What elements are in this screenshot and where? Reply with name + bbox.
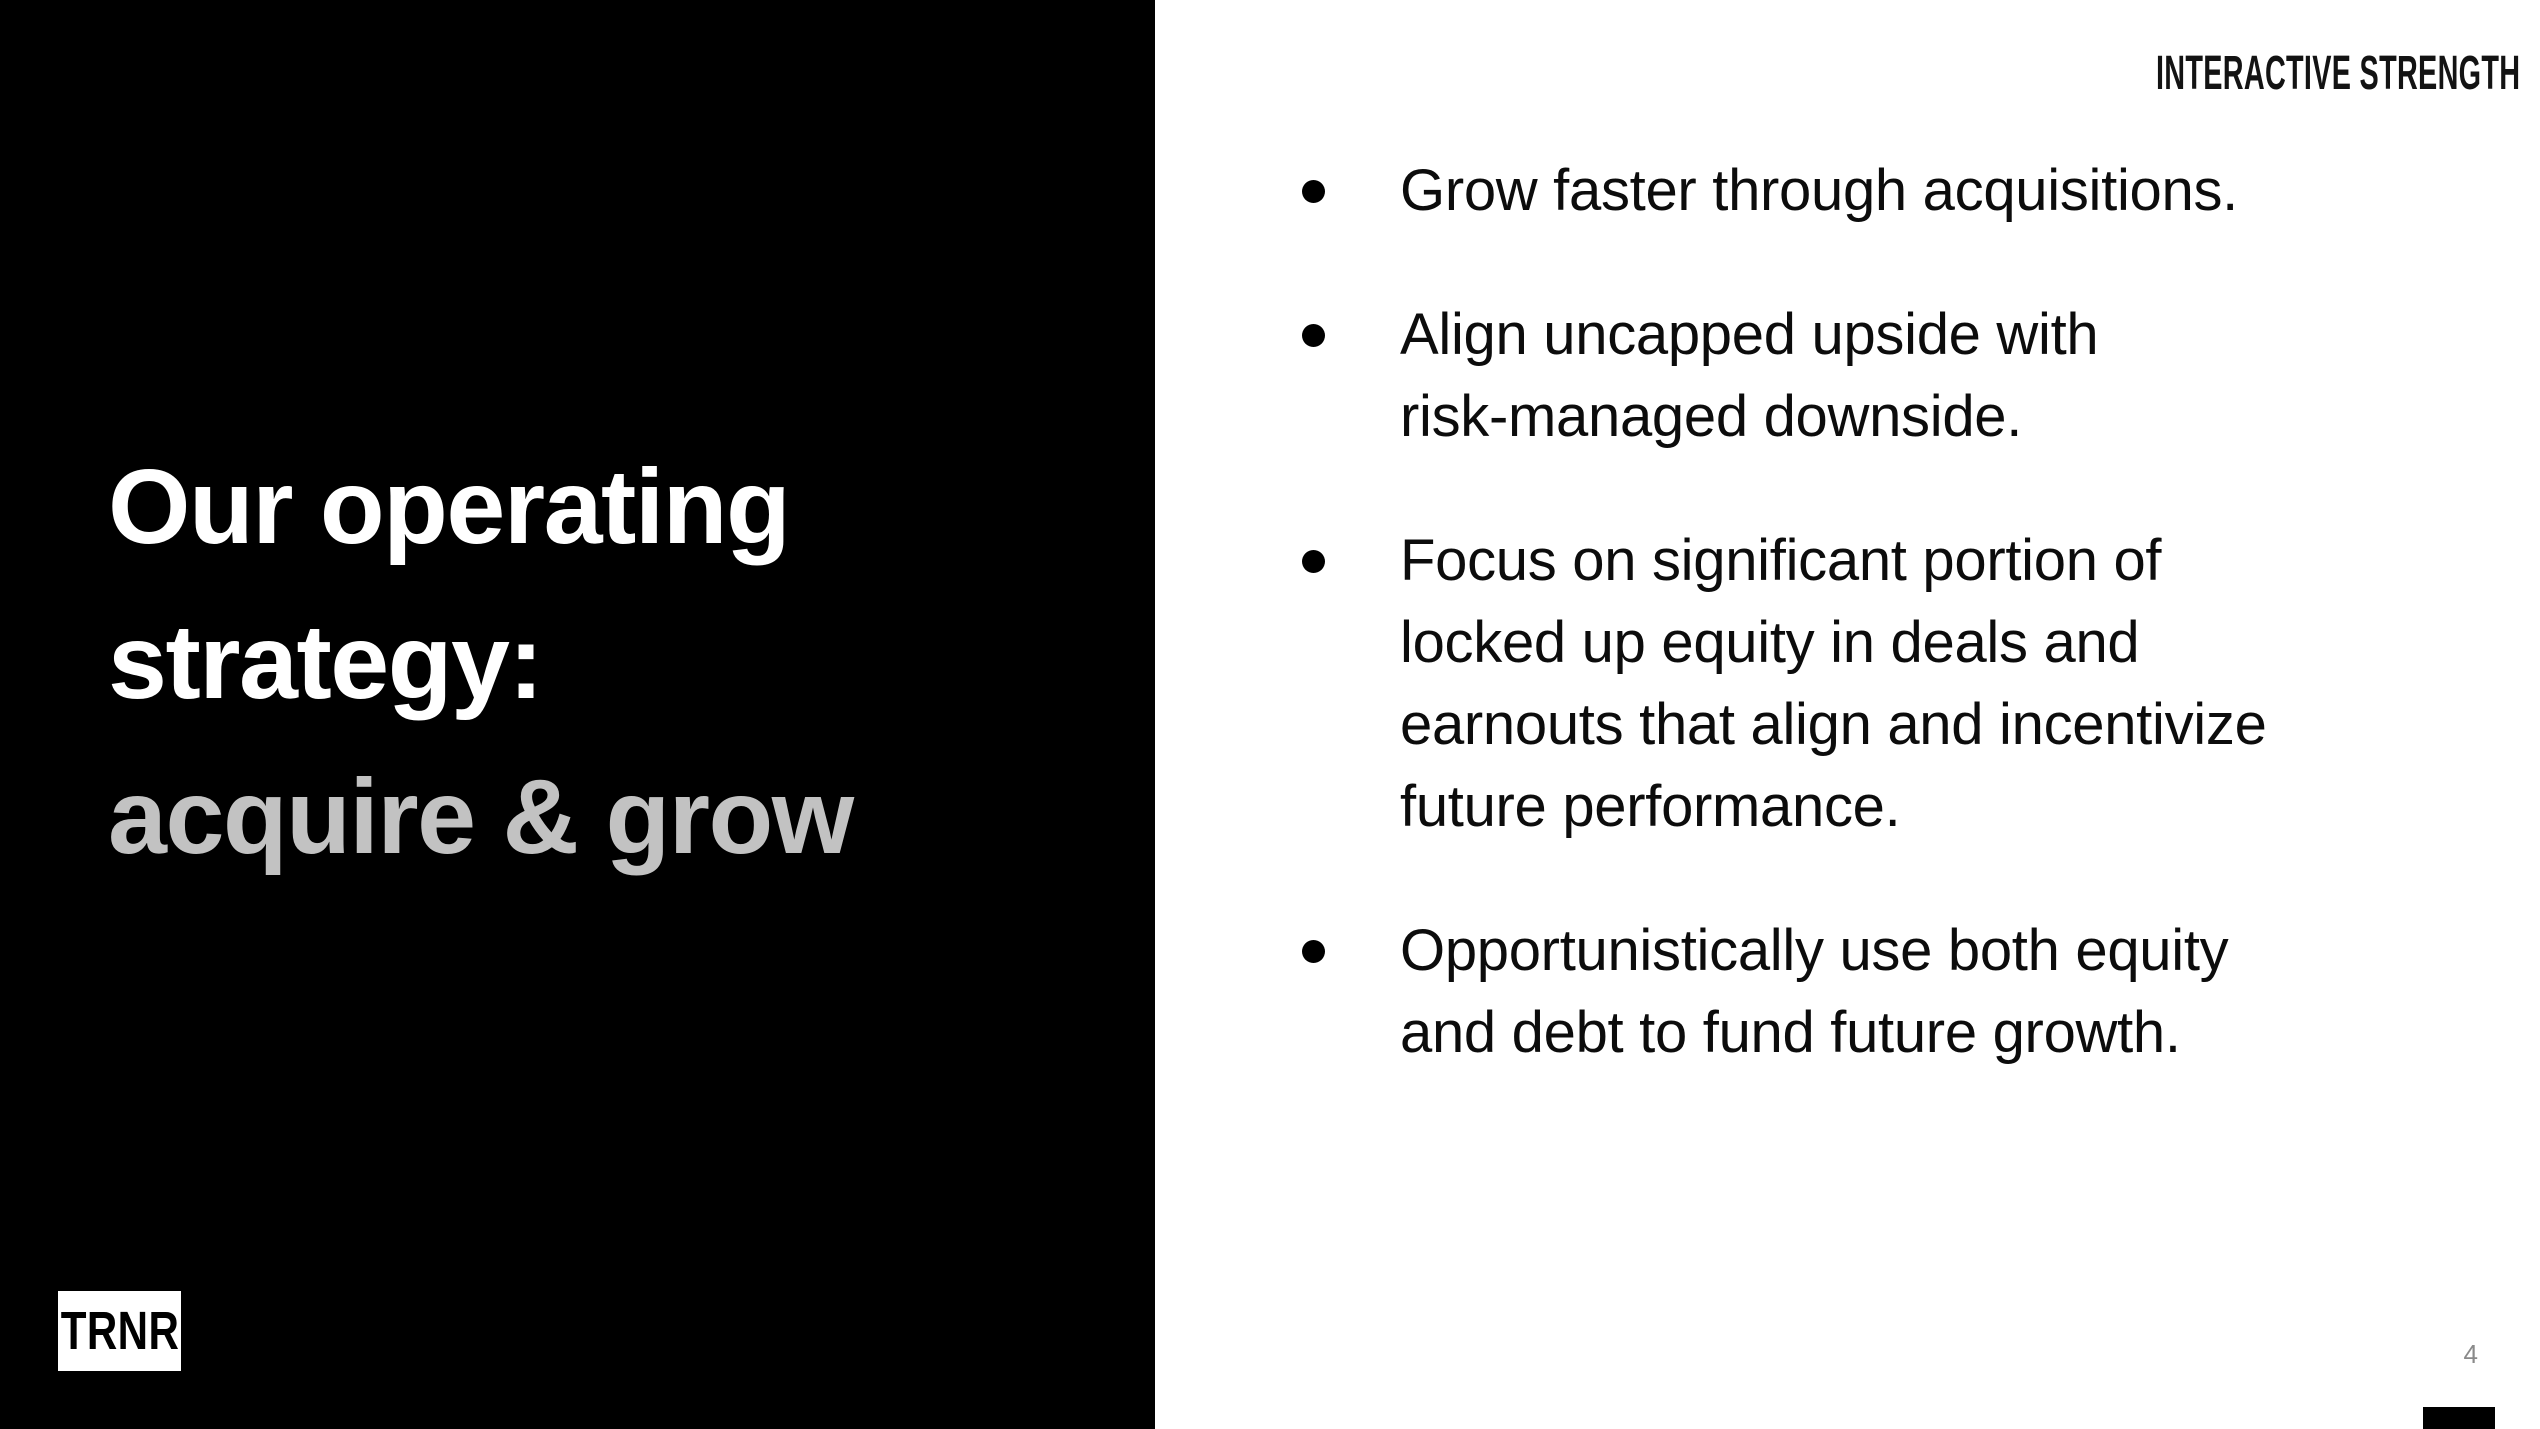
- bullet-point-icon: [1302, 324, 1325, 347]
- page-title: Our operating strategy: acquire & grow: [108, 430, 1088, 895]
- list-item-text: Grow faster through acquisitions.: [1400, 150, 2480, 232]
- page-title-secondary: acquire & grow: [108, 740, 1088, 895]
- left-title-panel: Our operating strategy: acquire & grow T…: [0, 0, 1155, 1429]
- trnr-logo-text: TRNR: [60, 1304, 179, 1358]
- list-item: Align uncapped upside with risk-managed …: [1300, 294, 2480, 458]
- interactive-strength-logo: INTERACTIVE STRENGTH: [2156, 50, 2520, 98]
- bullet-point-icon: [1302, 180, 1325, 203]
- strategy-bullet-list: Grow faster through acquisitions. Align …: [1300, 150, 2480, 1074]
- footer-accent-bar: [2423, 1407, 2495, 1429]
- trnr-logo: TRNR: [58, 1291, 181, 1371]
- right-content-panel: INTERACTIVE STRENGTH Grow faster through…: [1155, 0, 2540, 1429]
- list-item: Opportunistically use both equity and de…: [1300, 910, 2480, 1074]
- list-item: Focus on significant portion of locked u…: [1300, 520, 2480, 848]
- page-title-primary: Our operating strategy:: [108, 430, 1088, 740]
- list-item-text: Opportunistically use both equity and de…: [1400, 910, 2480, 1074]
- list-item-text: Focus on significant portion of locked u…: [1400, 520, 2480, 848]
- list-item-text: Align uncapped upside with risk-managed …: [1400, 294, 2480, 458]
- page-number: 4: [2464, 1341, 2478, 1367]
- presentation-slide: Our operating strategy: acquire & grow T…: [0, 0, 2540, 1429]
- bullet-point-icon: [1302, 550, 1325, 573]
- bullet-point-icon: [1302, 940, 1325, 963]
- list-item: Grow faster through acquisitions.: [1300, 150, 2480, 232]
